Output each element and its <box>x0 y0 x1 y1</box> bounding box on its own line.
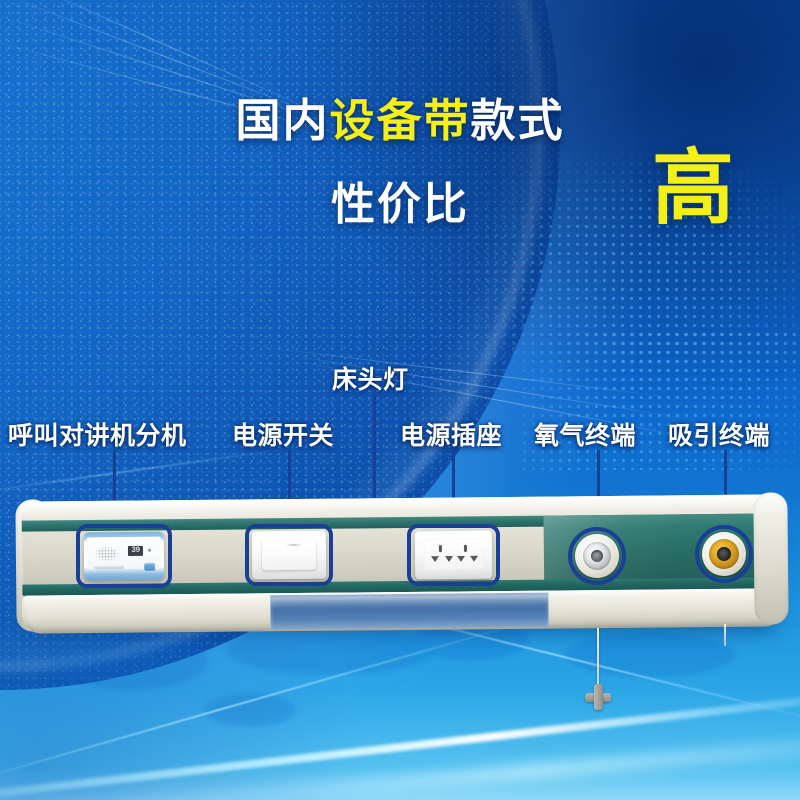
oxygen-terminal-device[interactable] <box>575 534 619 578</box>
headline-part1: 国内 <box>235 95 329 146</box>
subheadline-text: 性价比 <box>331 180 469 229</box>
socket-pin-icon <box>470 556 478 562</box>
oxygen-terminal-port <box>591 550 603 562</box>
callout-label-socket: 电源插座 <box>400 416 502 452</box>
power-socket-device[interactable] <box>415 531 492 580</box>
speaker-grille-icon <box>95 546 119 561</box>
socket-pin-icon <box>457 556 465 562</box>
intercom-display: 39 <box>128 546 143 556</box>
socket-faceplate <box>424 539 483 571</box>
power-switch-device[interactable] <box>252 531 326 580</box>
callout-label-bedlight: 床头灯 <box>332 360 409 396</box>
nurse-call-intercom-device[interactable]: 39 <box>84 532 164 581</box>
indicator-led-icon <box>148 549 151 552</box>
cord-handle-vertical <box>594 684 603 710</box>
pull-cord-handle[interactable] <box>585 684 611 710</box>
headline: 国内设备带款式 <box>0 84 800 149</box>
socket-pin-icon <box>445 556 453 562</box>
callout-label-suction: 吸引终端 <box>668 416 770 452</box>
rocker-indent-mark <box>286 544 302 546</box>
socket-pin-icon <box>464 545 467 552</box>
socket-pin-icon <box>431 556 439 562</box>
intercom-slot <box>94 566 124 569</box>
pull-cord-secondary[interactable] <box>724 624 726 646</box>
callout-label-intercom: 呼叫对讲机分机 <box>8 416 187 452</box>
rocker-switch-button[interactable] <box>262 539 316 571</box>
panel-lower-rail <box>22 588 782 633</box>
subheadline-emphasis: 高 <box>652 148 734 230</box>
panel-end-cap-right <box>753 492 788 624</box>
headline-highlight: 设备带 <box>329 95 470 146</box>
callout-label-switch: 电源开关 <box>232 416 334 452</box>
callout-label-oxygen: 氧气终端 <box>534 416 636 452</box>
promo-image-stage: 国内设备带款式 性价比 高 呼叫对讲机分机 电源开关 床头灯 电源插座 氧气终端… <box>0 0 800 800</box>
intercom-call-button[interactable] <box>144 563 155 571</box>
intercom-faceplate: 39 <box>87 537 161 570</box>
pull-cord[interactable] <box>597 628 599 690</box>
headline-part3: 款式 <box>471 95 565 146</box>
socket-pin-icon <box>439 545 442 552</box>
suction-terminal-device[interactable] <box>702 532 746 576</box>
suction-terminal-port <box>717 547 731 561</box>
